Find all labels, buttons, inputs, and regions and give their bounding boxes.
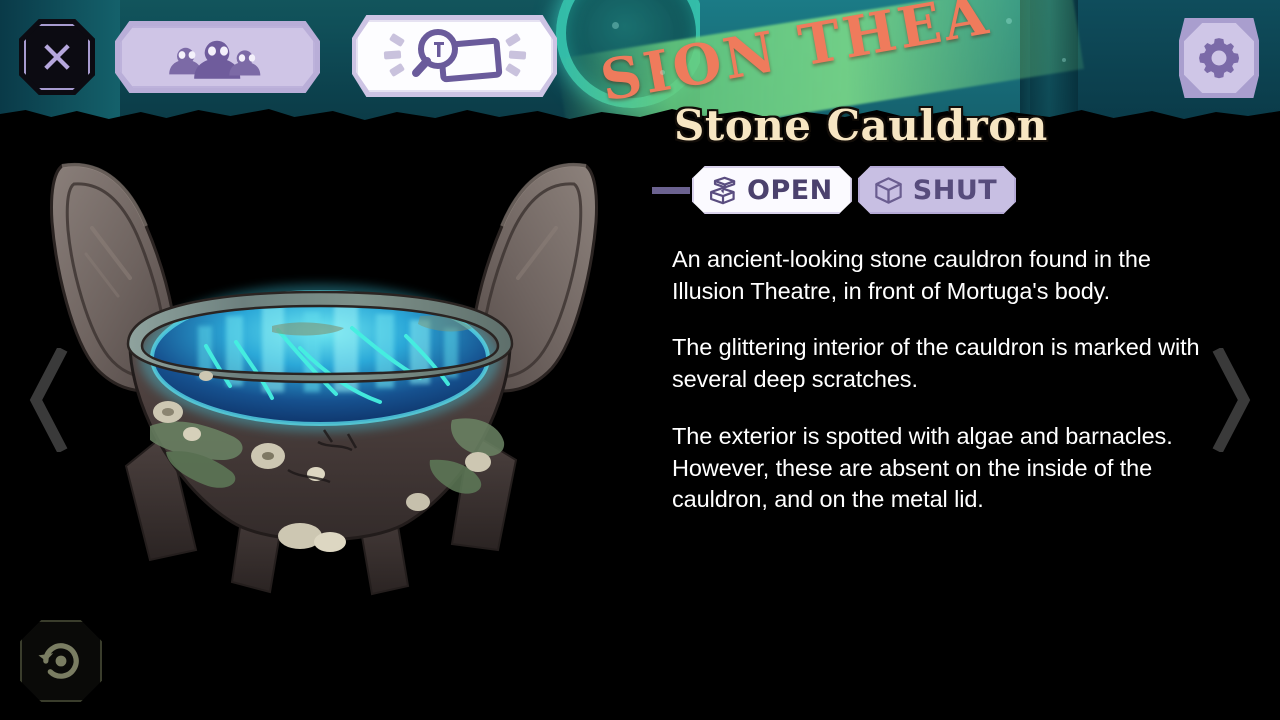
item-artwork xyxy=(0,130,640,610)
state-tabs: OPEN SHUT xyxy=(652,166,1024,214)
description-paragraph: The glittering interior of the cauldron … xyxy=(672,332,1212,395)
state-tab-open-label: OPEN xyxy=(747,177,833,204)
open-box-icon xyxy=(707,175,738,206)
chevron-left-icon xyxy=(26,348,72,452)
rotate-reset-icon xyxy=(35,635,87,687)
magnifier-handle xyxy=(416,61,427,73)
item-description: An ancient-looking stone cauldron found … xyxy=(672,244,1212,516)
tab-characters-face xyxy=(120,26,315,88)
tab-evidence[interactable] xyxy=(352,15,557,97)
characters-icon xyxy=(162,34,274,80)
settings-button[interactable] xyxy=(1179,18,1259,98)
reset-view-button[interactable] xyxy=(20,620,102,702)
description-paragraph: An ancient-looking stone cauldron found … xyxy=(672,244,1212,307)
x-icon xyxy=(39,39,75,75)
state-tab-open[interactable]: OPEN xyxy=(692,166,852,214)
page-title: Stone Cauldron xyxy=(674,101,1048,150)
magnifier-card-icon xyxy=(380,27,530,85)
state-tab-shut-label: SHUT xyxy=(913,177,997,204)
close-button-face xyxy=(24,24,90,90)
next-item-button[interactable] xyxy=(1208,348,1254,452)
close-button[interactable] xyxy=(19,19,95,95)
prev-item-button[interactable] xyxy=(26,348,72,452)
tab-characters[interactable] xyxy=(115,21,320,93)
closed-box-icon xyxy=(873,175,904,206)
game-screen: SION THEA xyxy=(0,0,1280,720)
gear-icon xyxy=(1196,35,1242,81)
divider-stub xyxy=(652,187,690,194)
state-tab-shut[interactable]: SHUT xyxy=(858,166,1016,214)
settings-button-face xyxy=(1184,23,1254,93)
chevron-right-icon xyxy=(1208,348,1254,452)
description-paragraph: The exterior is spotted with algae and b… xyxy=(672,421,1212,516)
tab-evidence-face xyxy=(356,20,553,92)
